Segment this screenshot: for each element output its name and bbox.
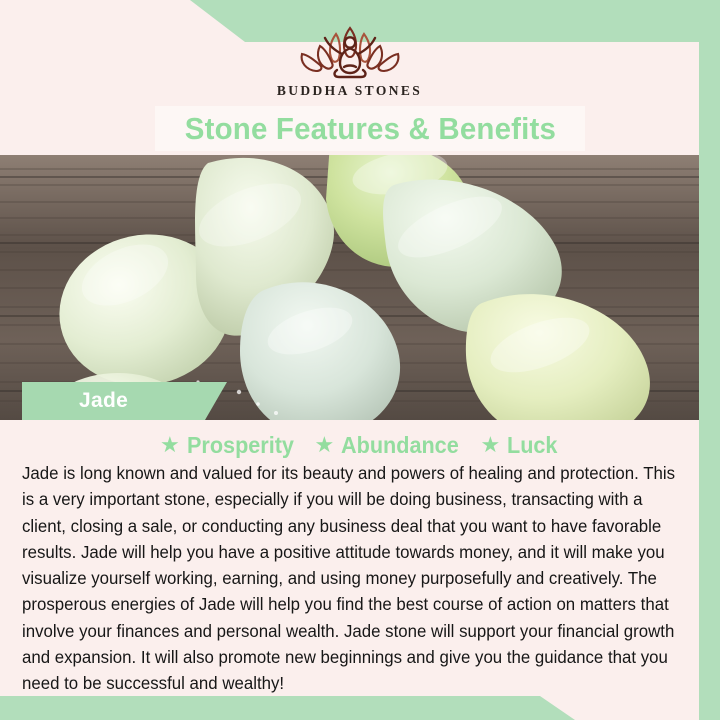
benefits-row: ★ Prosperity ★ Abundance ★ Luck	[22, 429, 699, 461]
benefit-label: Prosperity	[187, 432, 294, 459]
infographic-page: BUDDHA STONES Stone Features & Benefits	[0, 0, 720, 720]
stone-photo	[0, 155, 699, 420]
lotus-meditation-icon	[284, 20, 416, 82]
stone-name-banner: Jade	[22, 382, 227, 420]
decorative-band-right	[699, 0, 720, 720]
brand-name: BUDDHA STONES	[277, 83, 422, 99]
benefit-item-prosperity: ★ Prosperity	[160, 432, 301, 459]
benefit-item-luck: ★ Luck	[481, 432, 561, 459]
description-text: Jade is long known and valued for its be…	[22, 461, 697, 698]
benefit-label: Luck	[507, 432, 557, 459]
brand-logo: BUDDHA STONES	[277, 20, 422, 99]
page-title: Stone Features & Benefits	[184, 111, 555, 147]
title-banner: Stone Features & Benefits	[155, 106, 585, 151]
benefit-label: Abundance	[341, 432, 459, 459]
brand-header: BUDDHA STONES	[0, 42, 699, 108]
jade-stones-image	[0, 155, 699, 420]
stone-name: Jade	[79, 389, 128, 413]
star-icon: ★	[481, 434, 501, 456]
star-icon: ★	[315, 434, 335, 456]
benefit-item-abundance: ★ Abundance	[315, 432, 467, 459]
star-icon: ★	[160, 434, 180, 456]
